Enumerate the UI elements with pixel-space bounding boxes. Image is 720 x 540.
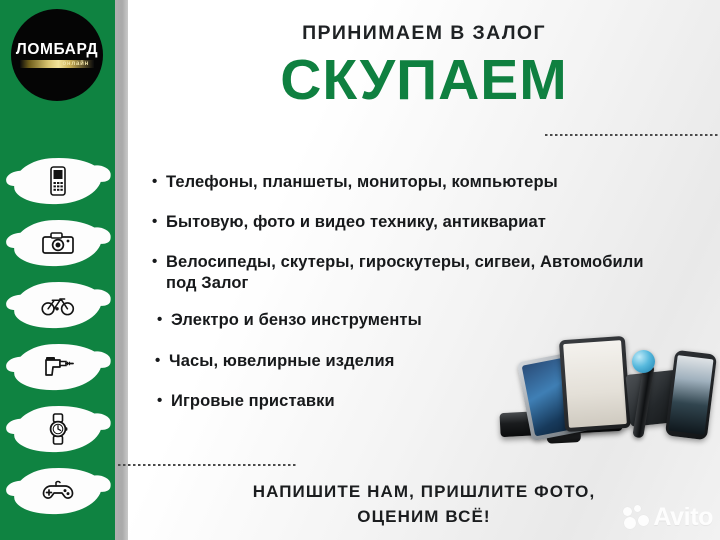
smartphone-image bbox=[665, 350, 717, 440]
devices-photo-collage bbox=[496, 332, 720, 460]
dotted-divider-left bbox=[118, 464, 296, 466]
list-item: • Велосипеды, скутеры, гироскутеры, сигв… bbox=[152, 252, 672, 294]
sidebar-icon-item bbox=[0, 460, 115, 522]
bullet-marker: • bbox=[152, 172, 166, 192]
bullet-marker: • bbox=[157, 391, 171, 411]
poster-canvas: ЛОМБАРД онлайн bbox=[0, 0, 720, 540]
sidebar-icon-list bbox=[0, 150, 115, 522]
list-item: • Телефоны, планшеты, мониторы, компьюте… bbox=[152, 172, 672, 193]
vertical-gray-divider bbox=[115, 0, 128, 540]
drill-icon bbox=[41, 350, 75, 384]
list-item: • Бытовую, фото и видео технику, антиква… bbox=[152, 212, 672, 233]
page-title: СКУПАЕМ bbox=[128, 52, 720, 109]
list-item-label: Велосипеды, скутеры, гироскутеры, сигвеи… bbox=[166, 252, 672, 294]
sidebar-icon-item bbox=[0, 398, 115, 460]
camera-icon bbox=[41, 226, 75, 260]
kicker-text: ПРИНИМАЕМ В ЗАЛОГ bbox=[128, 22, 720, 45]
brand-logo: ЛОМБАРД онлайн bbox=[11, 9, 103, 101]
brand-logo-subtitle: онлайн bbox=[62, 61, 94, 67]
gamepad-icon bbox=[41, 474, 75, 508]
bullet-marker: • bbox=[157, 310, 171, 330]
avito-wordmark: Avito bbox=[653, 505, 713, 530]
tablet-image bbox=[559, 336, 631, 432]
bullet-marker: • bbox=[152, 252, 166, 272]
dotted-divider-right bbox=[545, 134, 720, 136]
avito-logo-icon bbox=[623, 505, 650, 529]
phone-icon bbox=[41, 164, 75, 198]
sidebar-icon-item bbox=[0, 212, 115, 274]
bullet-marker: • bbox=[155, 351, 169, 371]
brand-logo-title: ЛОМБАРД bbox=[16, 42, 98, 58]
sidebar-icon-item bbox=[0, 150, 115, 212]
bicycle-icon bbox=[41, 288, 75, 322]
list-item-label: Электро и бензо инструменты bbox=[171, 310, 672, 331]
brand-logo-gold-bar: онлайн bbox=[20, 60, 94, 68]
list-item-label: Бытовую, фото и видео технику, антиквари… bbox=[166, 212, 672, 233]
sidebar-icon-item bbox=[0, 274, 115, 336]
avito-watermark: Avito bbox=[623, 500, 713, 534]
sidebar-icon-item bbox=[0, 336, 115, 398]
motion-controller-orb bbox=[632, 350, 655, 373]
list-item-label: Телефоны, планшеты, мониторы, компьютеры bbox=[166, 172, 672, 193]
list-item: • Электро и бензо инструменты bbox=[152, 310, 672, 331]
watch-icon bbox=[41, 412, 75, 446]
bullet-marker: • bbox=[152, 212, 166, 232]
